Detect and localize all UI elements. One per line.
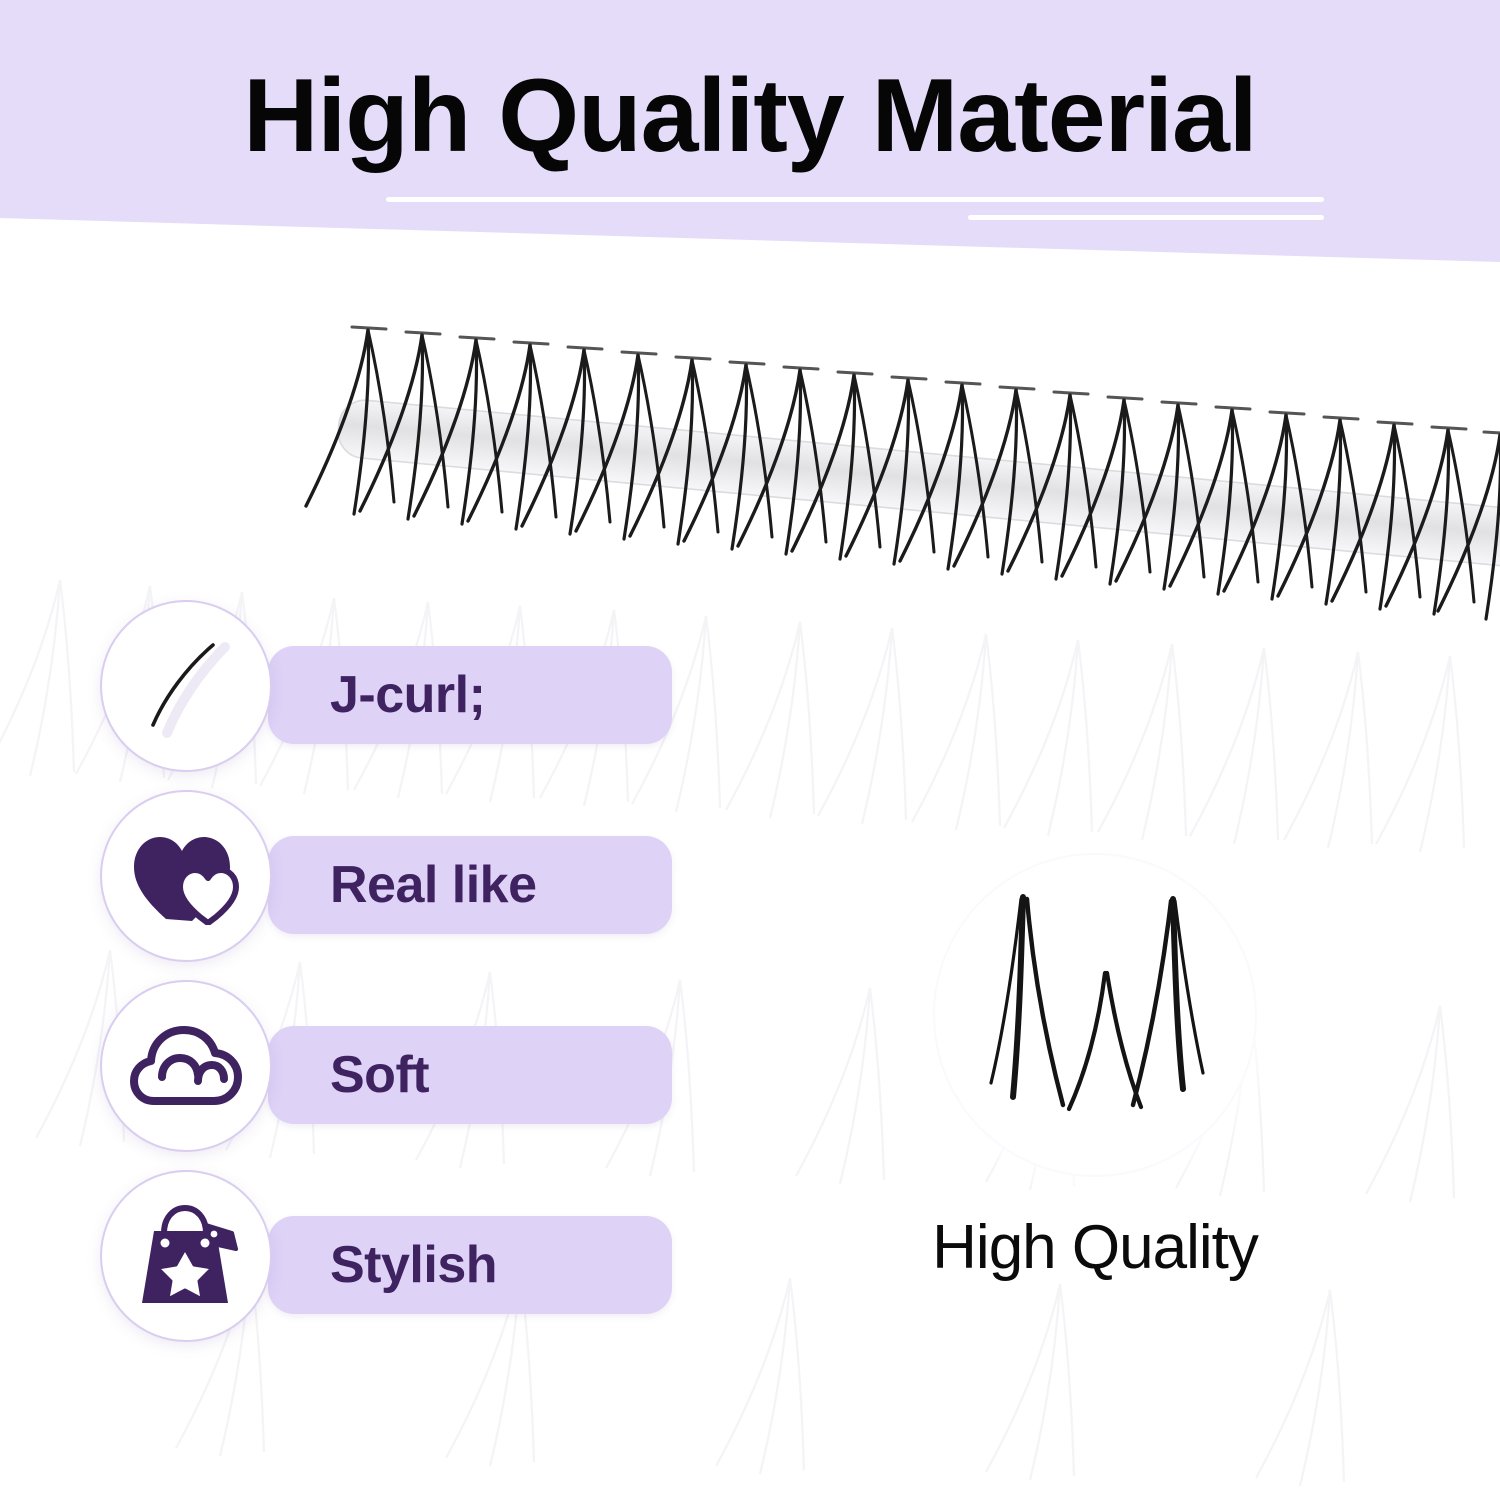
feature-label: J-curl; <box>268 646 672 744</box>
feature-pill: Real like <box>268 836 672 934</box>
feature-label: Real like <box>268 836 672 934</box>
double-heart-icon <box>100 790 272 962</box>
shopping-bag-star-icon <box>100 1170 272 1342</box>
magnified-lash-fibers-icon <box>935 855 1255 1175</box>
feature-label: Stylish <box>268 1216 672 1314</box>
feature-row-soft[interactable]: Soft <box>100 980 590 1170</box>
feature-row-stylish[interactable]: Stylish <box>100 1170 590 1360</box>
page-title: High Quality Material <box>0 62 1500 171</box>
zoom-inset-circle <box>935 855 1255 1175</box>
feature-row-real-like[interactable]: Real like <box>100 790 590 980</box>
header-rule-short <box>968 215 1324 220</box>
feature-label: Soft <box>268 1026 672 1124</box>
feature-pill: Stylish <box>268 1216 672 1314</box>
feature-pill: Soft <box>268 1026 672 1124</box>
feature-list: J-curl; Real like <box>100 600 590 1360</box>
crescent-curl-icon <box>100 600 272 772</box>
feature-row-j-curl[interactable]: J-curl; <box>100 600 590 790</box>
feature-pill: J-curl; <box>268 646 672 744</box>
header-rule-long <box>386 197 1324 202</box>
product-feature-infographic: High Quality Material <box>0 0 1500 1500</box>
zoom-inset-caption: High Quality <box>835 1212 1355 1283</box>
cloud-icon <box>100 980 272 1152</box>
